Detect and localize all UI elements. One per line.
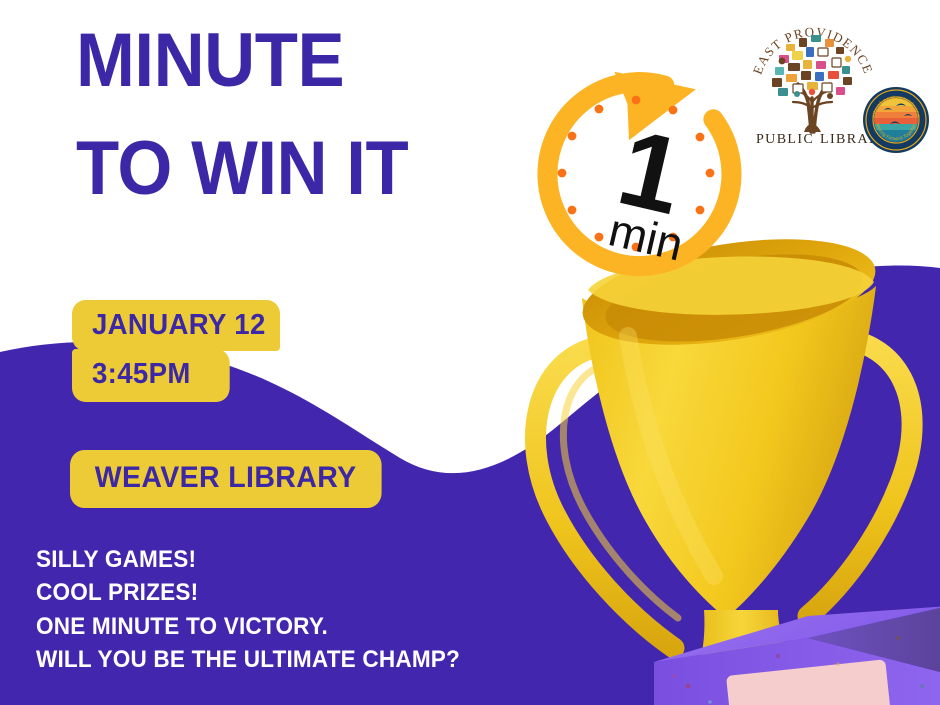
date-badge-label: JANUARY 12 <box>92 309 266 342</box>
date-time-badge-group: JANUARY 12 3:45PM <box>72 300 291 402</box>
headline-line-2: TO WIN IT <box>76 134 408 204</box>
headline: MINUTE TO WIN IT <box>76 26 433 204</box>
venue-badge: WEAVER LIBRARY <box>70 450 381 508</box>
date-badge: JANUARY 12 <box>72 300 280 351</box>
venue-badge-label: WEAVER LIBRARY <box>95 461 357 494</box>
blurb-line-4: WILL YOU BE THE ULTIMATE CHAMP? <box>36 643 460 676</box>
time-badge-label: 3:45PM <box>92 358 191 391</box>
time-badge: 3:45PM <box>72 349 230 402</box>
one-minute-timer-icon: 1 min <box>525 62 747 284</box>
blurb-block: SILLY GAMES! COOL PRIZES! ONE MINUTE TO … <box>36 543 487 676</box>
blurb-line-1: SILLY GAMES! <box>36 543 460 576</box>
blurb-line-3: ONE MINUTE TO VICTORY. <box>36 610 460 643</box>
east-providence-public-library-logo: EAST PROVIDENCE <box>748 14 878 148</box>
headline-line-1: MINUTE <box>76 26 408 96</box>
blurb-line-2: COOL PRIZES! <box>36 576 460 609</box>
logo-bottom-left-text: PUBLIC <box>756 132 814 147</box>
event-flyer: MINUTE TO WIN IT JANUARY 12 3:45PM WEAVE… <box>0 0 940 705</box>
city-of-east-providence-seal: city of east providence Moving Forward T… <box>862 86 930 154</box>
